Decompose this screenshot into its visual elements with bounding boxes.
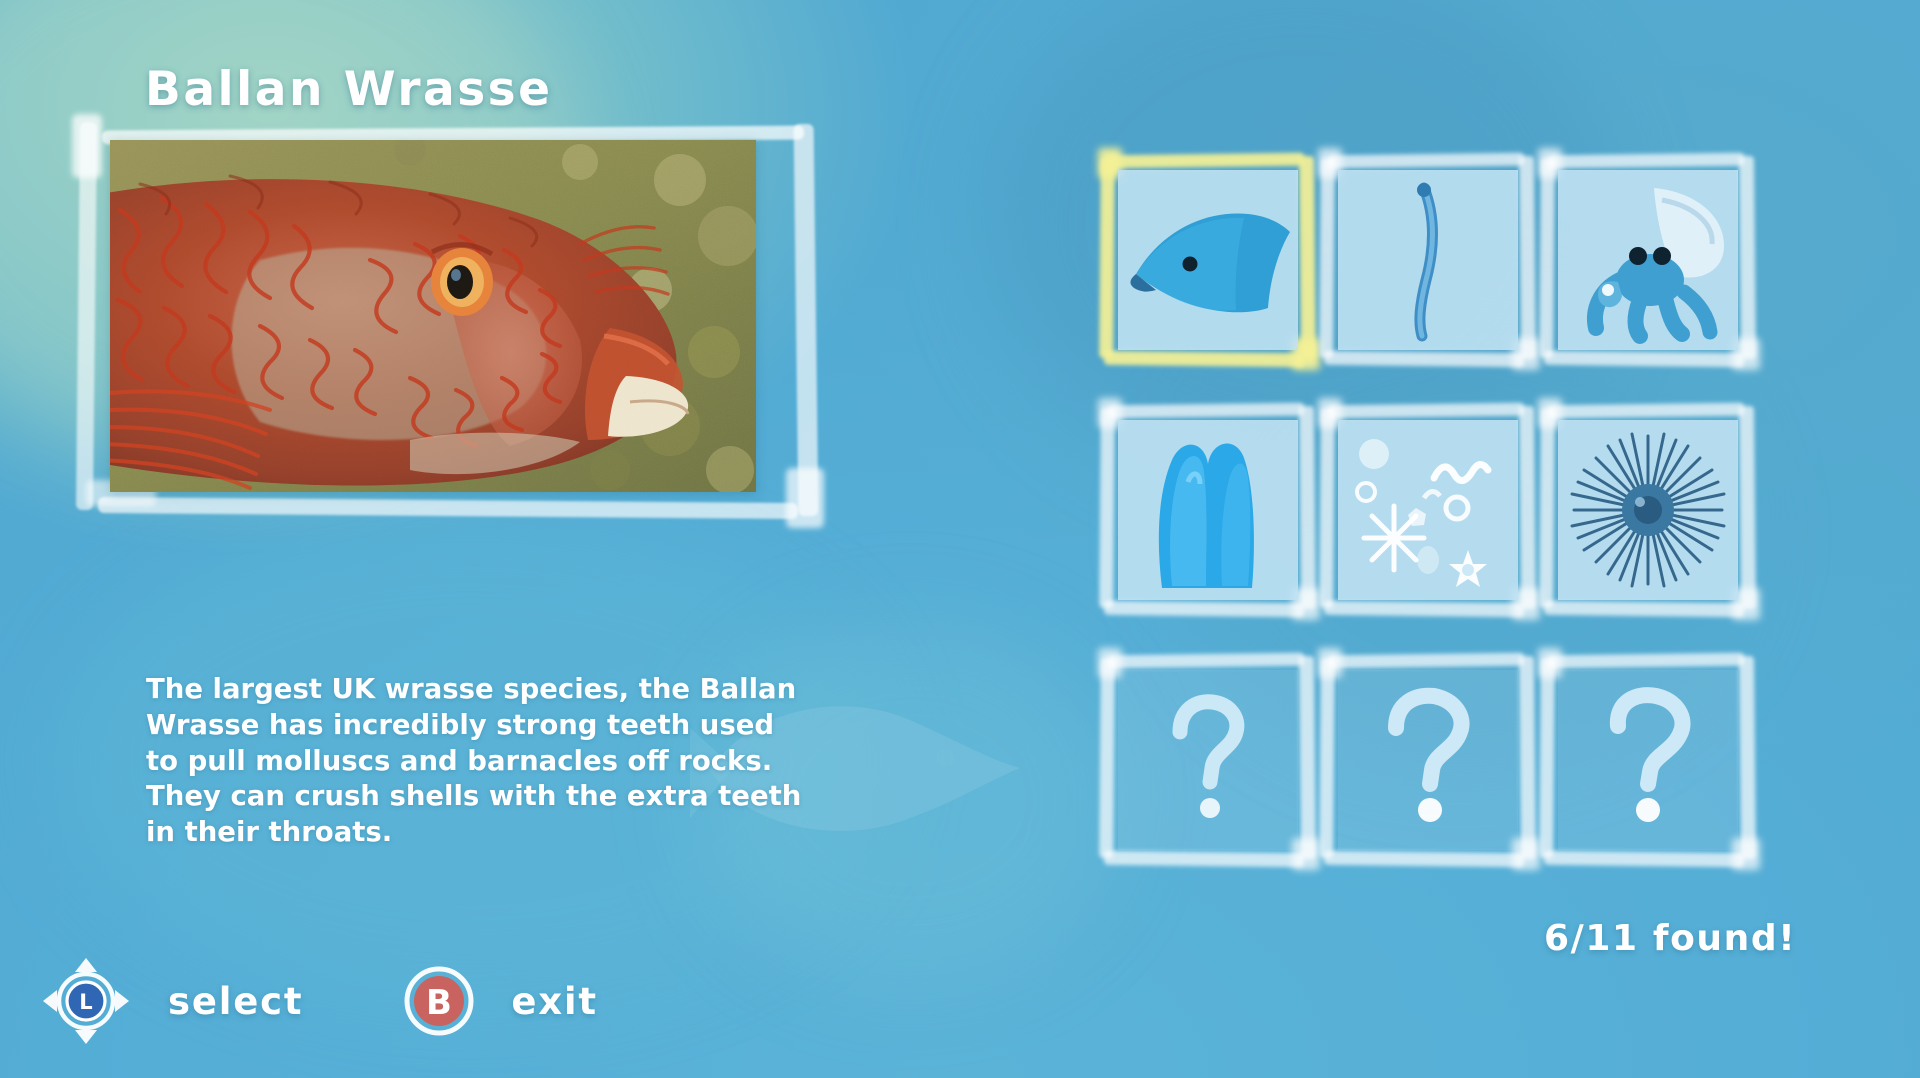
collection-slot-unknown[interactable] (1108, 660, 1308, 860)
slot-inner (1558, 170, 1738, 350)
question-mark-icon (1558, 670, 1738, 850)
collection-slot-soft-coral[interactable] (1108, 410, 1308, 610)
frame-brush-corner (786, 468, 824, 528)
controls-bar: L select B exit (40, 955, 598, 1047)
page-title: Ballan Wrasse (145, 62, 553, 117)
species-photo-frame (96, 128, 814, 518)
frame-brush-corner (72, 114, 102, 178)
svg-text:B: B (426, 983, 452, 1023)
soft-coral-icon (1118, 420, 1298, 600)
slot-inner (1118, 170, 1298, 350)
slot-inner (1338, 670, 1518, 850)
fish-head-icon (1118, 170, 1298, 350)
collection-slot-hermit-crab[interactable] (1548, 160, 1748, 360)
control-select-label: select (168, 980, 303, 1023)
frame-brush-right (794, 124, 819, 516)
species-description: The largest UK wrasse species, the Balla… (146, 672, 806, 851)
ballan-wrasse-photo-image (110, 140, 756, 492)
creature-collection-grid (1108, 160, 1748, 860)
sea-urchin-icon (1558, 420, 1738, 600)
collection-slot-ballan-wrasse[interactable] (1108, 160, 1308, 360)
species-detail-panel: Ballan Wrasse (0, 0, 980, 1078)
analog-stick-icon[interactable]: L (40, 955, 132, 1047)
slot-inner (1338, 420, 1518, 600)
svg-text:L: L (79, 990, 92, 1014)
frame-brush-left (76, 122, 97, 510)
hermit-crab-icon (1558, 170, 1738, 350)
collection-slot-unknown[interactable] (1548, 660, 1748, 860)
slot-inner (1558, 420, 1738, 600)
found-counter: 6/11 found! (1544, 918, 1796, 959)
frame-brush-bottom (98, 497, 798, 519)
collection-slot-worm-pipefish[interactable] (1328, 160, 1528, 360)
control-exit[interactable]: B exit (403, 965, 598, 1037)
slot-inner (1118, 670, 1298, 850)
collection-slot-sea-urchin[interactable] (1548, 410, 1748, 610)
plankton-icon (1338, 420, 1518, 600)
question-mark-icon (1338, 670, 1518, 850)
control-select[interactable]: L select (40, 955, 303, 1047)
b-button-icon[interactable]: B (403, 965, 475, 1037)
control-exit-label: exit (511, 980, 598, 1023)
slot-inner (1558, 670, 1738, 850)
slot-inner (1118, 420, 1298, 600)
question-mark-icon (1118, 670, 1298, 850)
collection-slot-plankton[interactable] (1328, 410, 1528, 610)
collection-slot-unknown[interactable] (1328, 660, 1528, 860)
slot-inner (1338, 170, 1518, 350)
worm-icon (1338, 170, 1518, 350)
species-info-screen: Ballan Wrasse (0, 0, 1920, 1078)
species-photo (110, 140, 756, 492)
